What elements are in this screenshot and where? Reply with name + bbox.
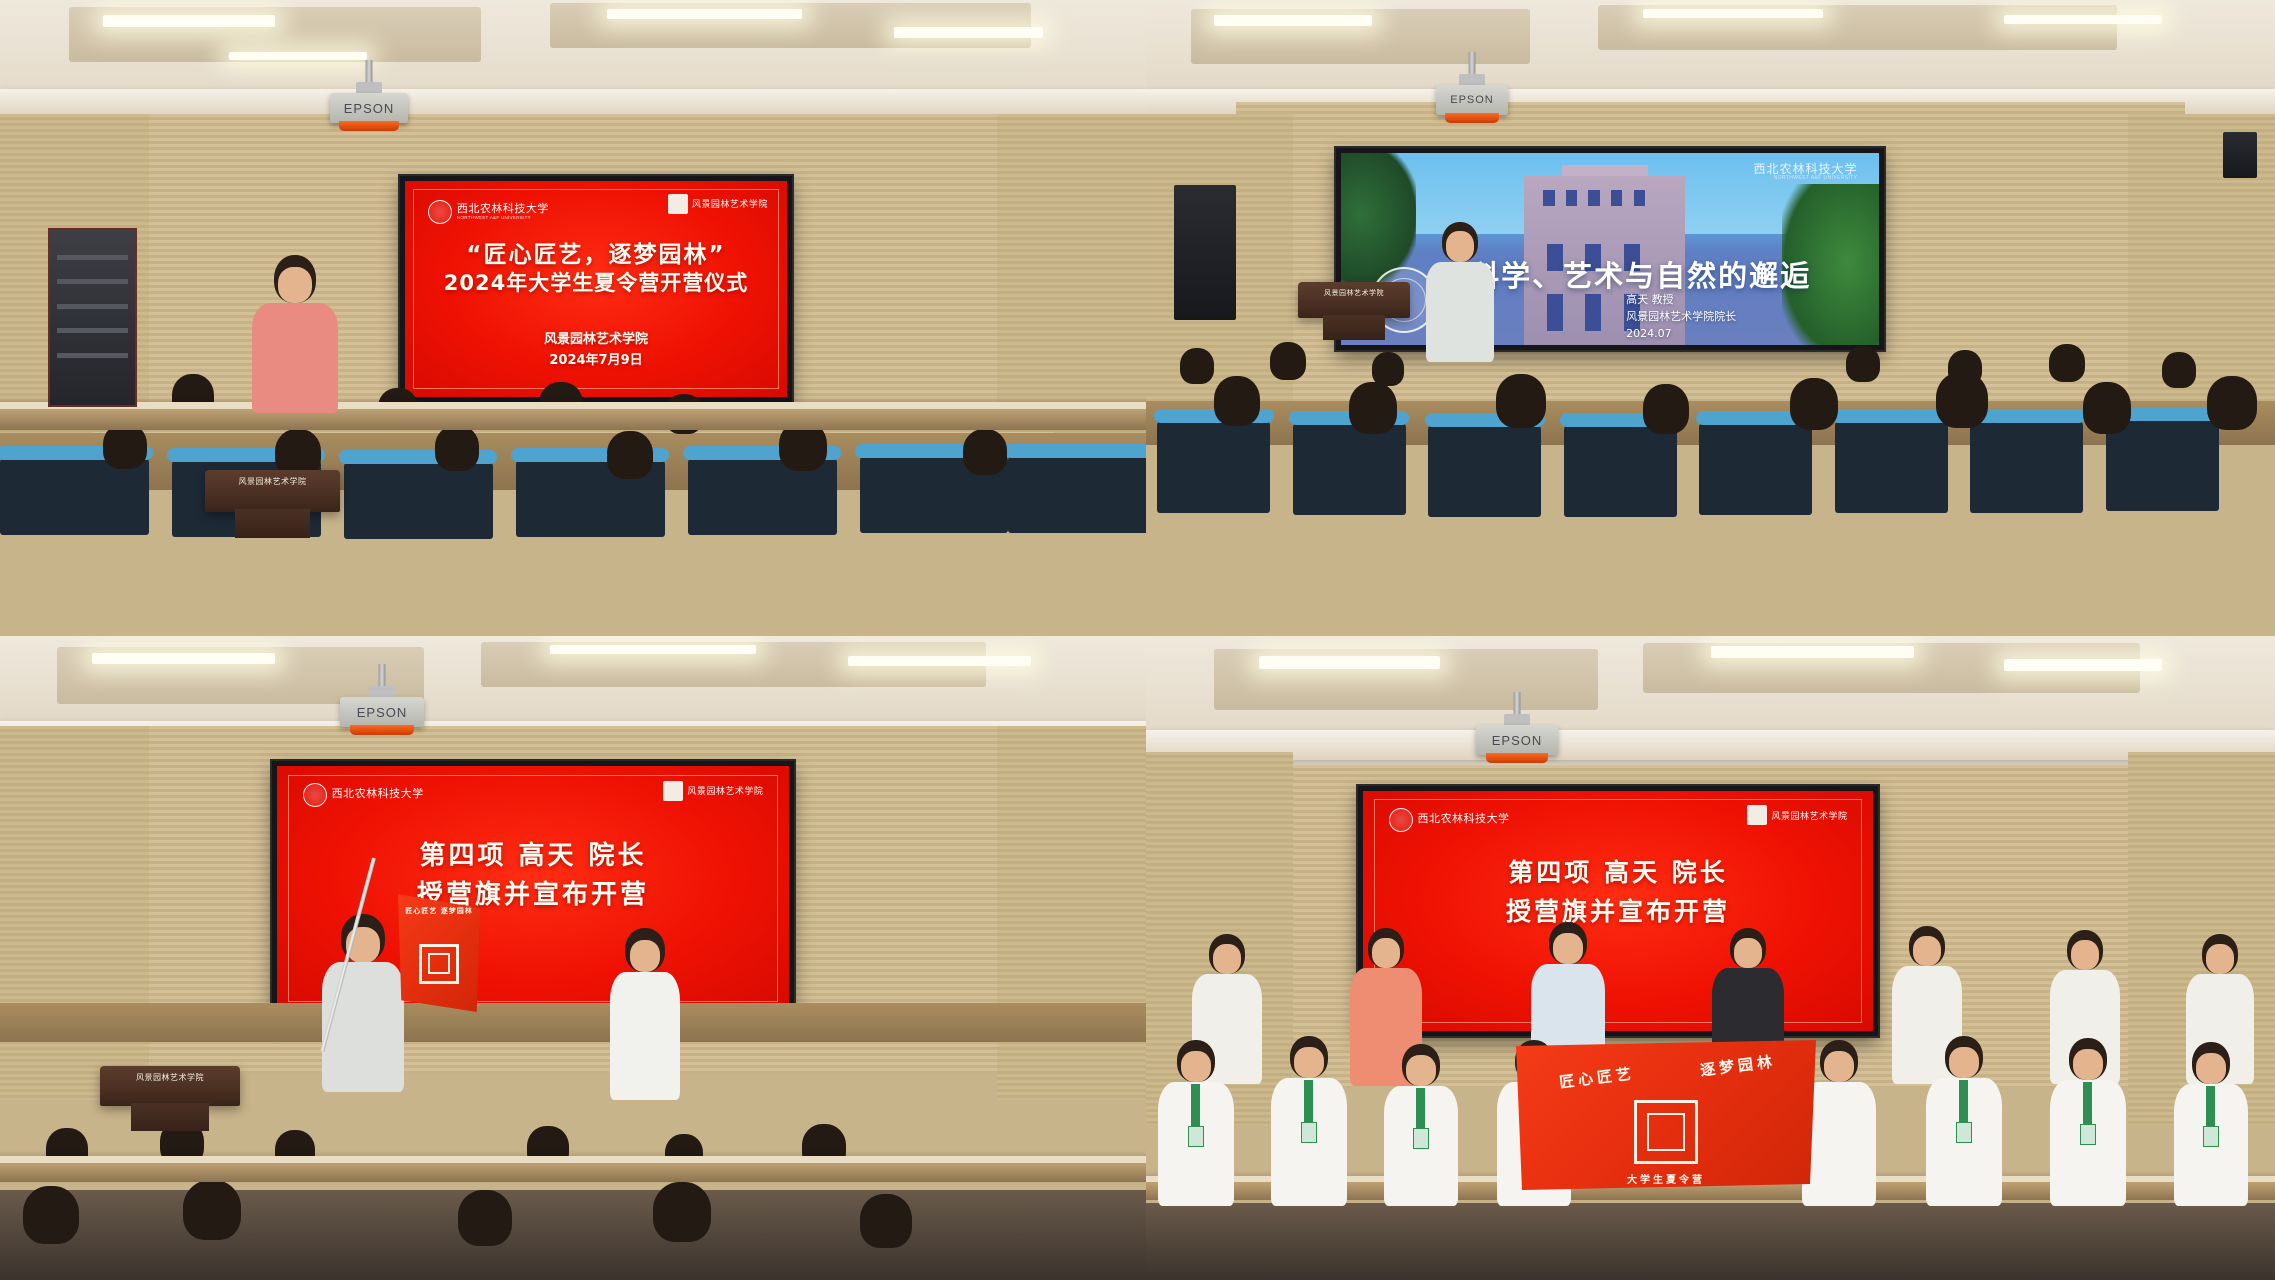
projector-lens [1445, 113, 1500, 123]
banner-text-right: 逐梦园林 [1671, 1047, 1805, 1084]
audience-head [1349, 382, 1397, 434]
student-face [1181, 1051, 1211, 1082]
speaker-person [250, 255, 340, 425]
floor [1146, 1203, 2275, 1280]
auditorium-chair [1835, 418, 1948, 513]
camp-banner: 匠心匠艺 逐梦园林 大学生夏令营 [1516, 1040, 1816, 1190]
auditorium-chair [1564, 422, 1677, 517]
id-badge [1413, 1128, 1429, 1149]
university-logo: 西北农林科技大学 [303, 783, 424, 807]
ceiling-band [0, 89, 1146, 116]
slide-title: 科学、艺术与自然的邂逅 [1470, 253, 1811, 295]
projector: EPSON [340, 664, 424, 738]
auditorium-chair [1428, 422, 1541, 517]
panel-bottom-left: EPSON 西北农林科技大学 风景园林艺术学院 第四项 高 [0, 636, 1146, 1280]
rack-slot [57, 279, 128, 284]
ceiling-light [1711, 646, 1914, 658]
ceiling-light [92, 653, 275, 664]
ceiling-light [894, 27, 1043, 37]
student-face [630, 940, 660, 972]
college-logo: 风景园林艺术学院 [1747, 805, 1847, 825]
lecture-hall-bottom-left: EPSON 西北农林科技大学 风景园林艺术学院 第四项 高 [0, 636, 1146, 1280]
student-member [1383, 1044, 1459, 1206]
audience-head [653, 1182, 711, 1242]
university-logo-cn: 西北农林科技大学 [332, 789, 424, 801]
projector: EPSON [1476, 692, 1558, 766]
student-face [2196, 1053, 2226, 1084]
college-logo: 风景园林艺术学院 [668, 194, 768, 214]
left-wall [0, 726, 149, 1100]
group-member-face [1372, 938, 1400, 968]
speaker-cabinet [1174, 185, 1236, 320]
slide-agenda-line-1: 第四项 高天 院长 [277, 835, 789, 872]
speaker-person [1424, 222, 1496, 362]
slide-speaker-name: 高天 教授 [1626, 291, 1736, 308]
panel-top-right: EPSON [1146, 0, 2275, 636]
ceiling-light [1643, 9, 1824, 18]
university-logo-en: NORTHWEST A&F UNIVERSITY [457, 216, 549, 221]
audience-desk [0, 402, 1146, 430]
student-member [1270, 1036, 1348, 1206]
rack-slot [57, 353, 128, 358]
flag-seal-inner [428, 953, 450, 975]
student-face [1406, 1055, 1436, 1086]
student-face [1294, 1047, 1324, 1078]
desk-edge [0, 402, 1146, 409]
projector-body: EPSON [330, 93, 408, 123]
college-mark-icon [1747, 805, 1767, 825]
speaker-shirt [1426, 262, 1494, 362]
building-window [1588, 190, 1599, 207]
group-member-face [1734, 938, 1762, 968]
right-wall [997, 726, 1146, 1100]
student-face [1949, 1047, 1979, 1078]
group-member-face [1913, 936, 1941, 966]
student-member [1157, 1040, 1235, 1206]
ceiling-light [848, 656, 1031, 666]
college-logo-cn: 风景园林艺术学院 [1771, 809, 1847, 822]
podium-base [131, 1103, 209, 1131]
audience-head [963, 429, 1007, 475]
audience-head [1496, 374, 1546, 428]
lanyard [2206, 1086, 2215, 1126]
ceiling-light [1259, 656, 1440, 669]
projector-lens [350, 725, 414, 735]
wall-speaker [2223, 132, 2257, 178]
podium: 风景园林艺术学院 [100, 1066, 240, 1106]
id-badge [1188, 1126, 1204, 1147]
audience-head [607, 431, 653, 479]
speaker-face [278, 267, 312, 303]
group-member-face [2206, 944, 2234, 974]
speaker-shirt [252, 303, 338, 413]
building-window [1543, 190, 1554, 207]
college-mark-icon [663, 781, 683, 801]
college-mark-icon [668, 194, 688, 214]
projector: EPSON [330, 60, 408, 132]
projector-brand-label: EPSON [344, 101, 395, 116]
lecture-hall-top-left: EPSON 西北农林科技大学 NORTHWEST A&F UNIVERSITY [0, 0, 1146, 636]
lanyard [1416, 1088, 1425, 1128]
slide-tree-left [1336, 148, 1416, 284]
projector-body: EPSON [1476, 725, 1558, 755]
equipment-rack [48, 228, 137, 407]
auditorium-chair [1008, 453, 1146, 533]
panel-bottom-right: EPSON 西北农林科技大学 风景园林艺术学院 第四项 高 [1146, 636, 2275, 1280]
audience-head [1180, 348, 1214, 384]
rack-slot [57, 255, 128, 260]
ceiling-light [229, 52, 367, 61]
audience-head [1214, 376, 1260, 426]
ceiling-light [103, 15, 275, 27]
slide-title: “匠心匠艺，逐梦园林” [405, 235, 787, 269]
audience-head [860, 1194, 912, 1248]
group-member-face [2071, 940, 2099, 970]
university-logo: 西北农林科技大学 [1389, 808, 1510, 832]
audience-head [1643, 384, 1689, 434]
dean-shirt [322, 962, 404, 1092]
podium: 风景园林艺术学院 [205, 470, 340, 512]
lanyard [2083, 1082, 2092, 1124]
auditorium-chair [1157, 418, 1270, 513]
auditorium-chair [1699, 420, 1812, 515]
group-member-face [1553, 933, 1583, 964]
university-logo: 西北农林科技大学 NORTHWEST A&F UNIVERSITY [1753, 163, 1857, 182]
university-seal-icon [1389, 808, 1413, 832]
podium-sign-text: 风景园林艺术学院 [239, 476, 307, 512]
building-window [1611, 190, 1622, 207]
banner-seal-inner [1647, 1113, 1684, 1150]
audience-head [23, 1186, 79, 1244]
audience-head [435, 425, 479, 471]
student-face [1824, 1051, 1854, 1082]
photo-collage: EPSON 西北农林科技大学 NORTHWEST A&F UNIVERSITY [0, 0, 2275, 1280]
student-member [1925, 1036, 2003, 1206]
speaker-face [1446, 231, 1474, 262]
slide-agenda-line-2: 授营旗并宣布开营 [277, 874, 789, 911]
ceiling-band [1146, 730, 2275, 760]
projector: EPSON [1436, 52, 1508, 122]
audience-head [2162, 352, 2196, 388]
audience-head [1936, 372, 1988, 428]
building-window [1566, 190, 1577, 207]
university-logo-cn: 西北农林科技大学 [1418, 814, 1510, 826]
group-member-face [1213, 944, 1241, 974]
ceiling-light [1214, 15, 1372, 26]
podium-base [235, 509, 311, 538]
auditorium-chair [1970, 418, 2083, 513]
slide-blue-background: 西北农林科技大学 NORTHWEST A&F UNIVERSITY 科学、艺术与… [1341, 153, 1879, 345]
projector-lens [1486, 753, 1548, 763]
auditorium-chair [1293, 420, 1406, 515]
projector-lens [339, 121, 398, 131]
panel-top-left: EPSON 西北农林科技大学 NORTHWEST A&F UNIVERSITY [0, 0, 1146, 636]
ceiling-light [2004, 15, 2162, 24]
projector-brand-label: EPSON [357, 705, 408, 720]
university-logo: 西北农林科技大学 NORTHWEST A&F UNIVERSITY [428, 200, 549, 224]
audience-head [1270, 342, 1306, 380]
audience-head [2207, 376, 2257, 430]
student-shirt [610, 972, 680, 1100]
id-badge [1301, 1122, 1317, 1143]
student-person [608, 928, 682, 1118]
student-member [2049, 1038, 2127, 1206]
projector-body: EPSON [1436, 85, 1508, 115]
podium-sign-text: 风景园林艺术学院 [136, 1072, 204, 1106]
stage-platform [0, 1003, 1146, 1042]
student-face [2073, 1049, 2103, 1080]
camp-flag: 匠心匠艺 逐梦园林 [398, 894, 480, 1012]
slide-organization: 风景园林艺术学院 [405, 328, 787, 347]
podium-sign-text: 风景园林艺术学院 [1324, 288, 1384, 318]
banner-text-left: 匠心匠艺 [1533, 1059, 1661, 1095]
slide-subtitle: 2024年大学生夏令营开营仪式 [405, 267, 787, 297]
projector-brand-label: EPSON [1450, 94, 1494, 106]
audience-head [458, 1190, 512, 1246]
slide-agenda-line-1: 第四项 高天 院长 [1363, 853, 1873, 889]
college-logo: 风景园林艺术学院 [663, 781, 763, 801]
podium: 风景园林艺术学院 [1298, 282, 1410, 318]
id-badge [1956, 1122, 1972, 1143]
lecture-hall-bottom-right: EPSON 西北农林科技大学 风景园林艺术学院 第四项 高 [1146, 636, 2275, 1280]
lanyard [1959, 1080, 1968, 1122]
college-logo-cn: 风景园林艺术学院 [692, 197, 768, 210]
rack-slot [57, 328, 128, 333]
audience-head [183, 1180, 241, 1240]
auditorium-chair [344, 459, 493, 539]
flag-text: 匠心匠艺 逐梦园林 [398, 906, 480, 916]
ceiling-light [607, 9, 802, 19]
university-logo-en: NORTHWEST A&F UNIVERSITY [1753, 176, 1857, 182]
audience-head [1846, 346, 1880, 382]
university-logo-cn: 西北农林科技大学 [1753, 163, 1857, 176]
desk-edge [0, 1156, 1146, 1163]
id-badge [2080, 1124, 2096, 1145]
university-seal-icon [303, 783, 327, 807]
building-window [1634, 190, 1645, 207]
college-logo-cn: 风景园林艺术学院 [687, 784, 763, 797]
lanyard [1304, 1080, 1313, 1122]
audience-head [2049, 344, 2085, 382]
projector-body: EPSON [340, 697, 424, 727]
audience-head [1372, 352, 1404, 386]
audience-row-2 [0, 415, 1146, 535]
banner-bottom-text: 大学生夏令营 [1516, 1171, 1816, 1186]
flag-seal-icon [419, 944, 459, 984]
lanyard [1191, 1084, 1200, 1126]
banner-seal-icon [1634, 1100, 1698, 1164]
audience-row-2 [1146, 372, 2275, 512]
ceiling-light [550, 645, 756, 655]
audience-head [1790, 378, 1838, 430]
ceiling-light [2004, 659, 2162, 671]
projector-brand-label: EPSON [1492, 733, 1543, 748]
student-member [2173, 1042, 2249, 1206]
podium-base [1323, 315, 1386, 340]
id-badge [2203, 1126, 2219, 1147]
rack-slot [57, 304, 128, 309]
university-seal-icon [428, 200, 452, 224]
audience-head [2083, 382, 2131, 434]
floor [0, 1190, 1146, 1280]
lecture-hall-top-right: EPSON [1146, 0, 2275, 636]
audience-desk [0, 1156, 1146, 1182]
